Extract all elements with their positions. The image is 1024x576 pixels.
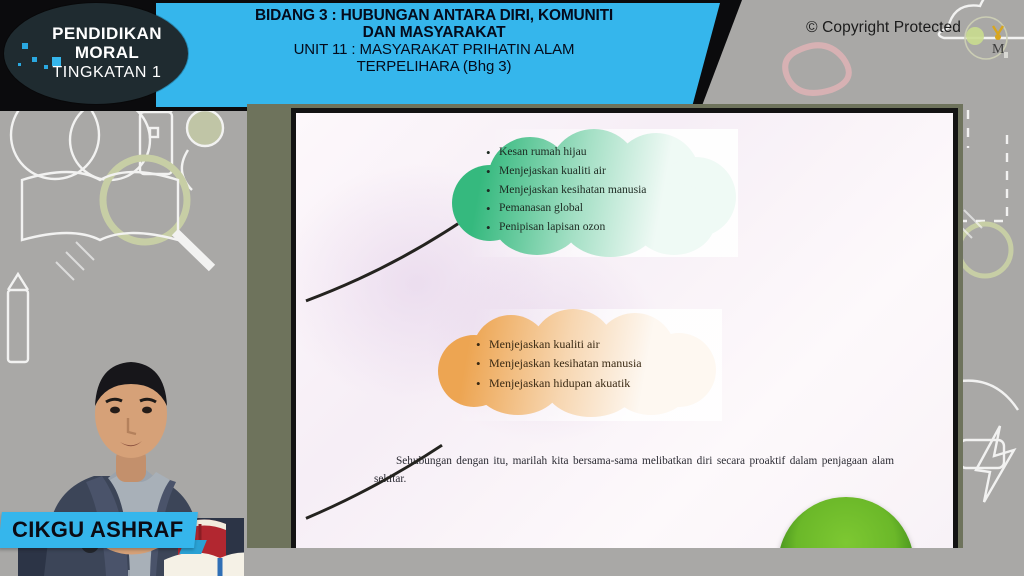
list-item: Menjejaskan kualiti air xyxy=(476,335,642,354)
header-title-line-1: BIDANG 3 : HUBUNGAN ANTARA DIRI, KOMUNIT… xyxy=(162,7,706,24)
list-item: Pemanasan global xyxy=(486,199,646,218)
bottom-background-strip xyxy=(230,548,1024,576)
logo-level-label: TINGKATAN 1 xyxy=(52,64,161,82)
presenter-name-label: CIKGU ASHRAF xyxy=(12,517,183,543)
svg-text:M: M xyxy=(992,42,1005,57)
header-title-line-3: UNIT 11 : MASYARAKAT PRIHATIN ALAM xyxy=(162,42,706,59)
screen-root: BIDANG 3 : HUBUNGAN ANTARA DIRI, KOMUNIT… xyxy=(0,0,1024,576)
list-item: Menjejaskan kualiti air xyxy=(486,162,646,181)
slide-canvas: Kesan rumah hijau Menjejaskan kualiti ai… xyxy=(296,113,953,548)
slide-summary-paragraph: Sehubungan dengan itu, marilah kita bers… xyxy=(374,453,894,488)
slide-frame: Kesan rumah hijau Menjejaskan kualiti ai… xyxy=(247,104,963,548)
copyright-notice: © Copyright Protected xyxy=(806,19,961,37)
list-item: Menjejaskan kesihatan manusia xyxy=(486,181,646,200)
logo-subject-line-2: MORAL xyxy=(75,43,139,63)
list-item: Kesan rumah hijau xyxy=(486,143,646,162)
slide-summary-text: Sehubungan dengan itu, marilah kita bers… xyxy=(374,453,894,488)
orange-cloud-callout: Menjejaskan kualiti air Menjejaskan kesi… xyxy=(438,309,722,421)
header-title-line-2: DAN MASYARAKAT xyxy=(162,24,706,41)
green-cloud-list: Kesan rumah hijau Menjejaskan kualiti ai… xyxy=(486,143,646,237)
header-title-bar: BIDANG 3 : HUBUNGAN ANTARA DIRI, KOMUNIT… xyxy=(156,3,720,107)
watermark-logo-icon: M xyxy=(962,16,1010,62)
green-circle-callout: Persekitaran menjadi xyxy=(778,497,914,548)
logo-subject-line-1: PENDIDIKAN xyxy=(52,25,162,43)
header-title-line-4: TERPELIHARA (Bhg 3) xyxy=(162,59,706,76)
orange-cloud-list: Menjejaskan kualiti air Menjejaskan kesi… xyxy=(476,335,642,393)
course-logo-badge: PENDIDIKAN MORAL TINGKATAN 1 xyxy=(4,3,188,104)
list-item: Menjejaskan hidupan akuatik xyxy=(476,374,642,393)
presenter-name-banner: CIKGU ASHRAF xyxy=(0,512,198,548)
green-cloud-callout: Kesan rumah hijau Menjejaskan kualiti ai… xyxy=(452,129,738,257)
list-item: Penipisan lapisan ozon xyxy=(486,218,646,237)
list-item: Menjejaskan kesihatan manusia xyxy=(476,354,642,373)
